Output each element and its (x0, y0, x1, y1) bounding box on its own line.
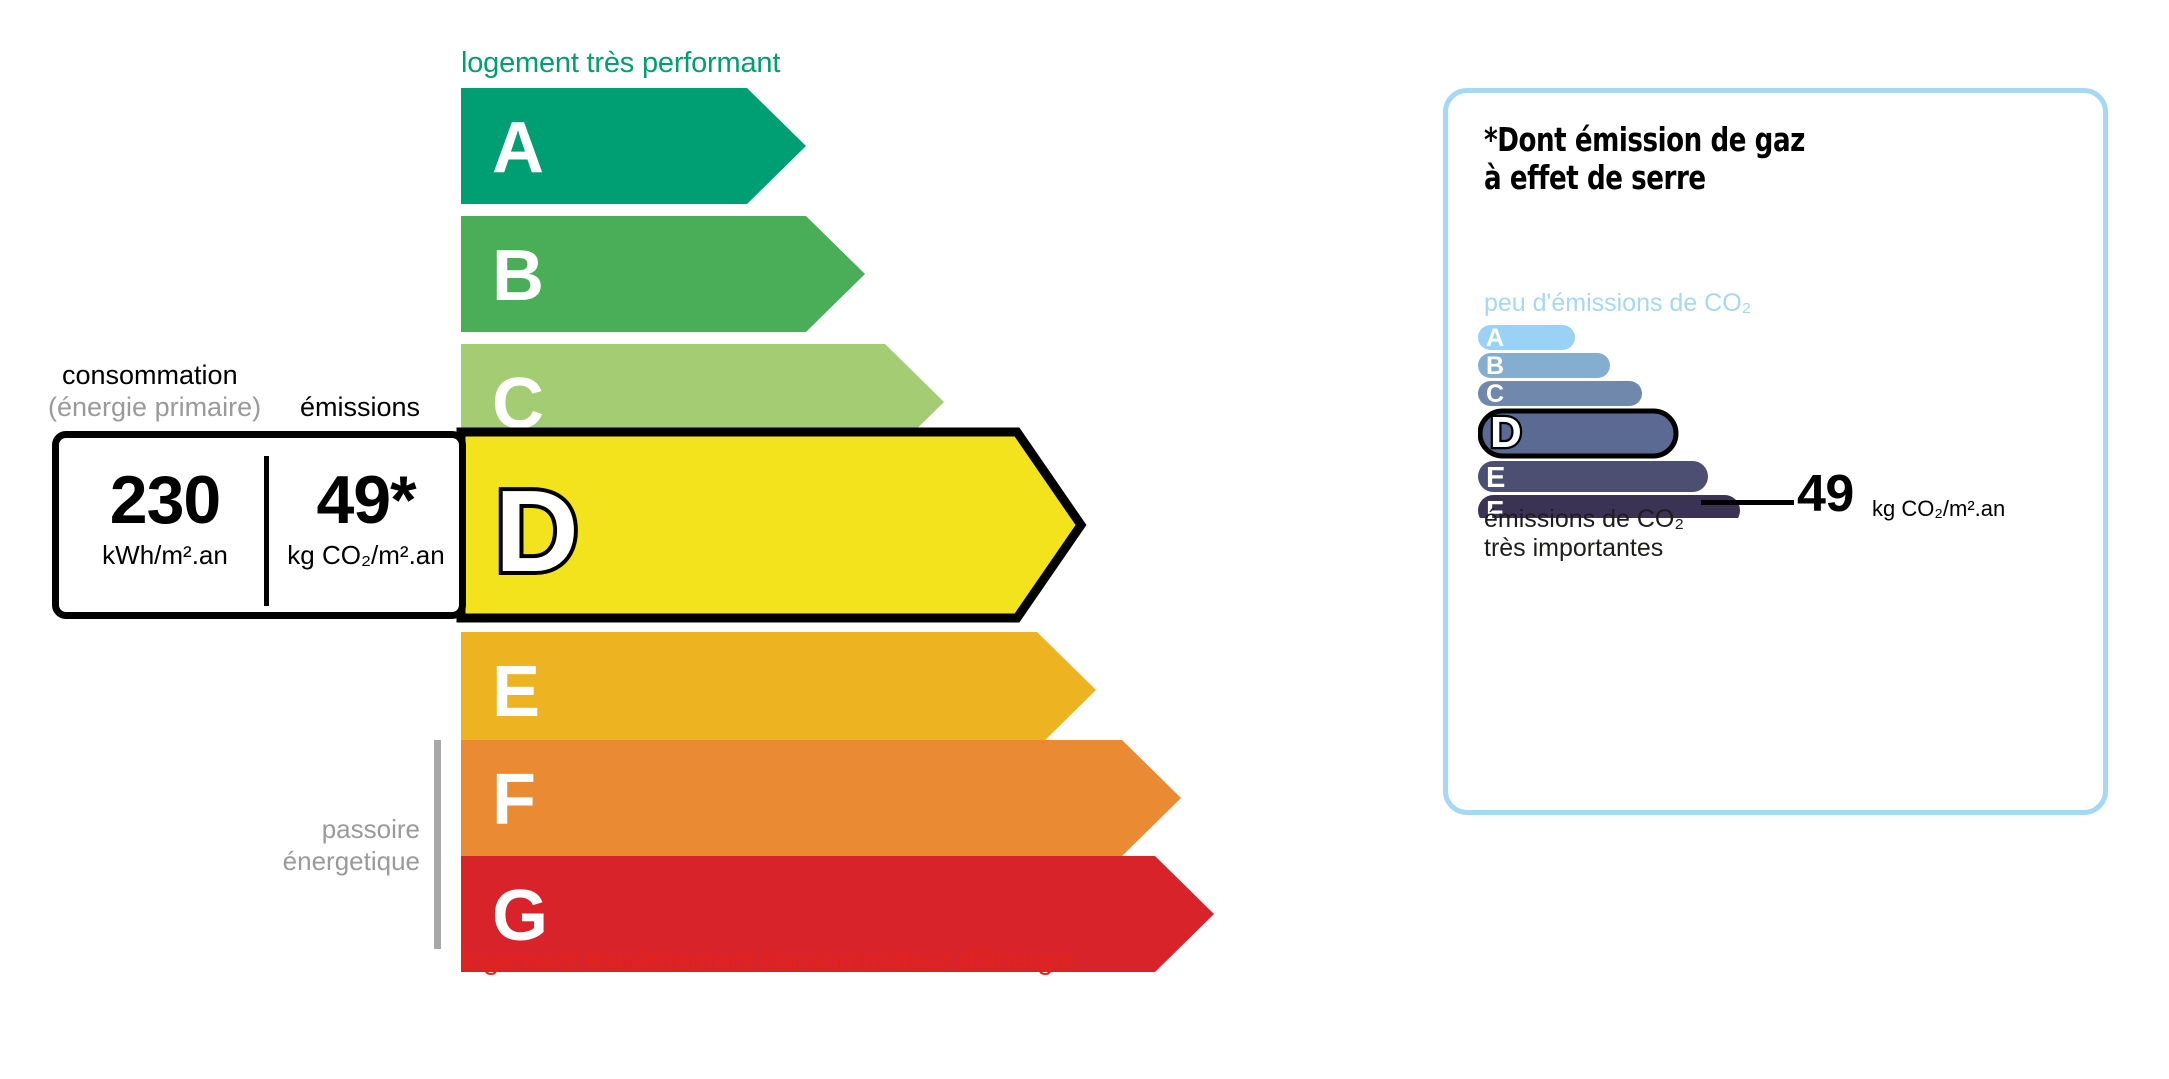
energy-class-row-e[interactable]: E (461, 632, 1096, 748)
co2-panel-title: *Dont émission de gaz à effet de serre (1484, 121, 1805, 197)
emission-value: 49* (271, 462, 461, 538)
consumption-header-label: consommation (62, 360, 238, 391)
emission-value-cell: 49* kg CO₂/m².an (271, 462, 461, 570)
co2-emissions-panel: *Dont émission de gaz à effet de serre p… (1443, 88, 2108, 815)
co2-bar-e[interactable] (1478, 461, 1708, 492)
energy-class-row-b[interactable]: B (461, 216, 865, 332)
consumption-value: 230 (67, 462, 263, 538)
co2-letter-d: D (1490, 408, 1522, 457)
co2-letter-c: C (1486, 380, 1504, 408)
co2-letter-e: E (1486, 462, 1505, 494)
emission-unit: kg CO₂/m².an (271, 540, 461, 570)
energy-letter-f: F (492, 760, 536, 840)
co2-top-caption: peu d'émissions de CO₂ (1484, 289, 1751, 318)
value-box-divider (264, 456, 269, 606)
energy-letter-e: E (492, 652, 540, 732)
value-summary-box: 230 kWh/m².an 49* kg CO₂/m².an (52, 431, 466, 619)
co2-letter-b: B (1486, 352, 1504, 380)
consumption-value-cell: 230 kWh/m².an (67, 462, 263, 570)
co2-letter-a: A (1486, 324, 1504, 352)
energy-letter-b: B (492, 236, 544, 316)
energy-arrow-e[interactable] (461, 632, 1096, 748)
dpe-label-root: logement très performant A B C D (0, 0, 2169, 1079)
passoire-label: passoire énergetique (180, 813, 420, 877)
energy-letter-d: D (495, 466, 579, 596)
co2-callout-leader-line (1701, 500, 1794, 505)
energy-performance-scale: logement très performant A B C D (0, 0, 1400, 1079)
consumption-header-sublabel: (énergie primaire) (48, 392, 261, 423)
energy-class-row-f[interactable]: F (461, 740, 1181, 856)
co2-class-row-b[interactable]: B (1478, 352, 1610, 380)
energy-class-row-d[interactable]: D (461, 432, 1081, 618)
energy-top-caption: logement très performant (461, 47, 780, 80)
co2-class-row-e[interactable]: E (1478, 461, 1708, 494)
energy-arrow-f[interactable] (461, 740, 1181, 856)
co2-callout-unit: kg CO₂/m².an (1872, 496, 2005, 522)
co2-bottom-caption: émissions de CO₂ très importantes (1484, 505, 1684, 563)
co2-class-row-c[interactable]: C (1478, 380, 1642, 408)
consumption-unit: kWh/m².an (67, 540, 263, 570)
co2-class-row-a[interactable]: A (1478, 324, 1575, 352)
passoire-bracket-line (434, 740, 441, 949)
co2-class-bars: A B C D (1478, 323, 2088, 513)
energy-letter-a: A (492, 108, 544, 188)
co2-class-row-d[interactable]: D (1480, 408, 1676, 457)
co2-callout-value: 49 (1797, 466, 1854, 522)
emissions-header-label: émissions (300, 392, 420, 423)
energy-class-row-a[interactable]: A (461, 88, 806, 204)
energy-bottom-caption: logement extrêmement consommateur d'éner… (461, 944, 1075, 977)
